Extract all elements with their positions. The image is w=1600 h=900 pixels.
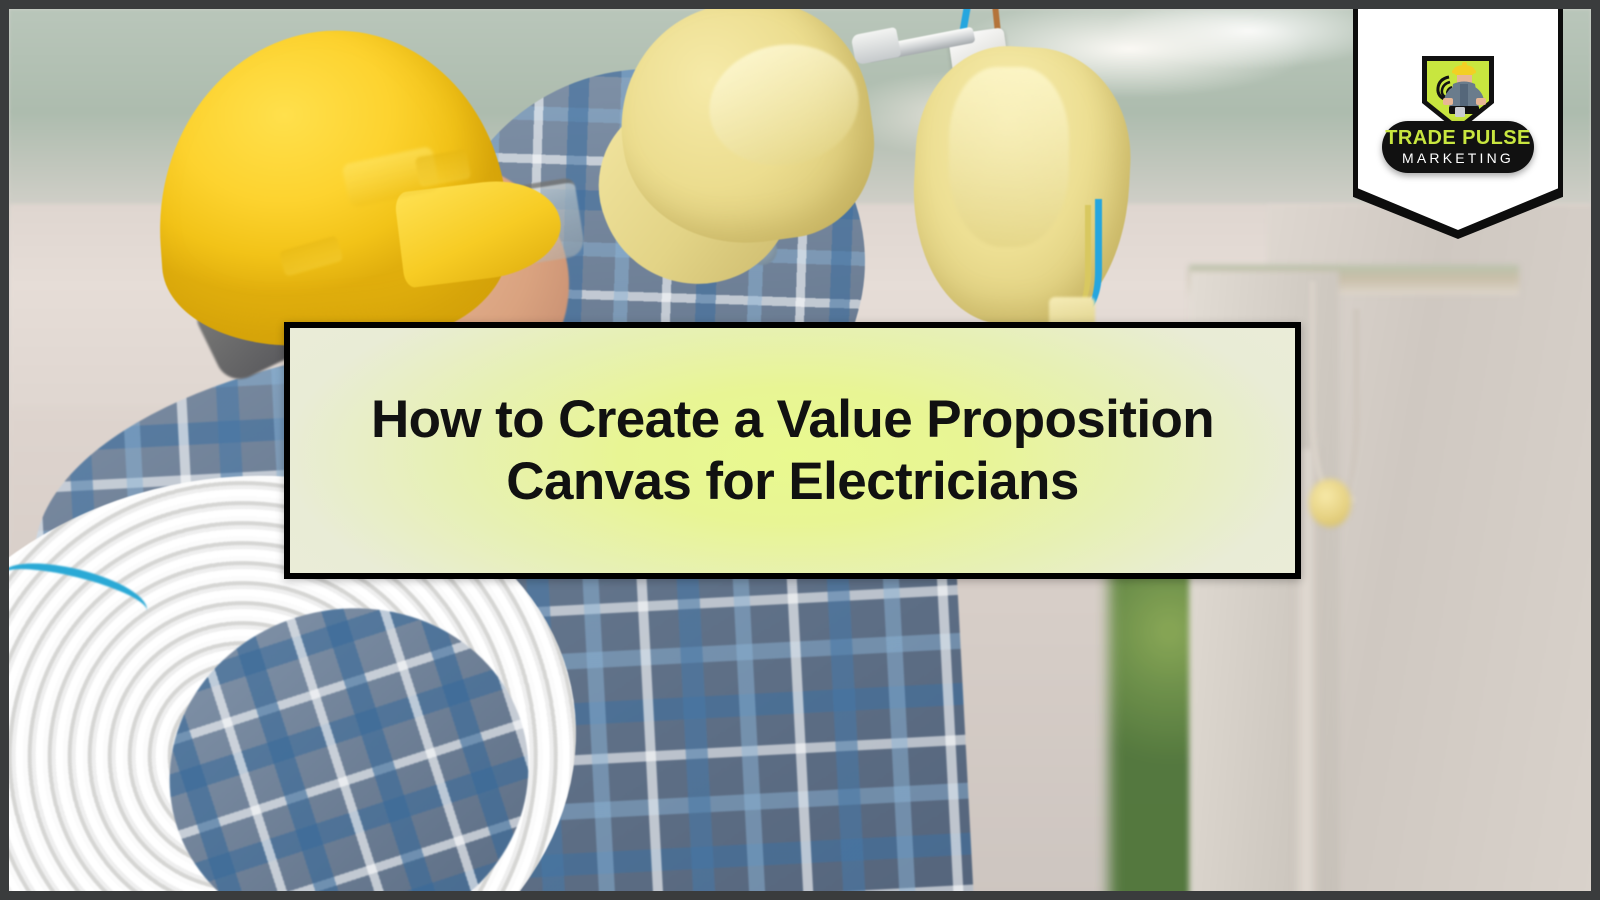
yellow-hard-hat xyxy=(149,31,561,351)
logo-brand-tagline: MARKETING xyxy=(1382,151,1534,165)
image-frame: How to Create a Value Proposition Canvas… xyxy=(0,0,1600,900)
right-glove-knuckles xyxy=(949,67,1069,247)
logo-wordmark-banner: TRADE PULSE MARKETING xyxy=(1382,121,1534,173)
page-title: How to Create a Value Proposition Canvas… xyxy=(290,389,1295,513)
hanging-cord-secondary xyxy=(1327,309,1360,499)
hanging-bulb xyxy=(1309,479,1351,527)
brand-logo[interactable]: TRADE PULSE MARKETING xyxy=(1358,53,1558,173)
logo-brand-name: TRADE PULSE xyxy=(1382,128,1534,148)
title-card: How to Create a Value Proposition Canvas… xyxy=(284,322,1301,579)
